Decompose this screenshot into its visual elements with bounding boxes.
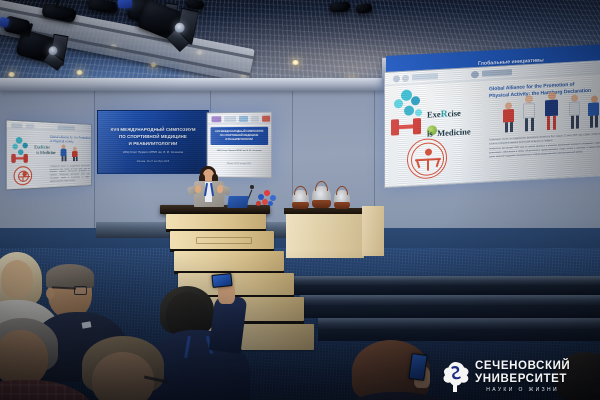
exercise-is-medicine-seal <box>14 166 33 186</box>
watermark-line1: СЕЧЕНОВСКИЙ <box>475 361 570 373</box>
dumbbell-illustration <box>11 153 28 163</box>
symposium-title-screen: XVII МЕЖДУНАРОДНЫЙ СИМПОЗИУМ ПО СПОРТИВН… <box>97 110 209 174</box>
partner-logo-icon <box>212 116 222 122</box>
stage-step-riser <box>318 329 600 341</box>
side-counter <box>286 212 364 258</box>
brand-medicine: Medicine <box>437 126 471 138</box>
figure-illustration <box>543 91 561 130</box>
presenter-at-podium <box>186 166 232 210</box>
podium-inset-plate <box>196 237 252 244</box>
presenter-laptop <box>227 196 249 208</box>
symposium-title-line2: ПО СПОРТИВНОЙ МЕДИЦИНЕ <box>98 134 208 139</box>
audience-head <box>0 330 48 386</box>
partner-logo-icon <box>471 71 479 78</box>
presenter-hand-left <box>195 185 201 193</box>
presenter-hand-right <box>217 185 223 193</box>
flower-arrangement <box>256 190 278 210</box>
gift-basket <box>334 190 350 209</box>
main-presentation-screen: Global Alliance for the Promotion of Phy… <box>384 60 600 188</box>
brand-is: is <box>427 128 433 138</box>
sechenov-university-watermark: СЕЧЕНОВСКИЙ УНИВЕРСИТЕТ НАУКИ О ЖИЗНИ <box>440 358 596 396</box>
audience-ear <box>46 288 54 299</box>
symposium-title-line1: XVII МЕЖДУНАРОДНЫЙ СИМПОЗИУМ <box>98 127 208 132</box>
brand-r: R <box>441 110 448 120</box>
partner-logo-icon <box>402 75 409 82</box>
ceiling-downlight <box>8 72 15 77</box>
partner-logo-icon <box>239 115 248 121</box>
figure-illustration <box>521 95 538 132</box>
stage-step-riser <box>286 285 600 295</box>
audience-hair <box>46 264 94 288</box>
stage-spotlight <box>356 3 373 14</box>
partner-logo-icon <box>262 115 270 121</box>
ceiling-downlight <box>292 60 299 65</box>
monitor-logo-bar <box>208 113 272 125</box>
side-led-wall: Global Alliance for the Promotion of Phy… <box>6 119 92 190</box>
brand-cise: cise <box>448 108 461 119</box>
partner-logo-icon <box>224 116 236 122</box>
symposium-title-line3: И РЕАБИЛИТОЛОГИИ <box>98 141 208 146</box>
exercise-is-medicine-seal <box>407 138 447 180</box>
partner-logo-icon <box>393 75 400 82</box>
side-counter-return <box>362 206 384 256</box>
stage-spotlight <box>330 1 351 12</box>
partner-logo-icon <box>412 73 438 80</box>
microphone-head <box>250 185 254 189</box>
watermark-tagline: НАУКИ О ЖИЗНИ <box>475 388 570 393</box>
stage-step <box>286 276 600 285</box>
partner-logo-icon <box>482 69 512 77</box>
exercise-is-medicine-brand: ExeRcise is Medicine <box>427 102 471 141</box>
figure-illustration <box>71 147 79 162</box>
podium-panel <box>166 214 266 229</box>
gift-basket <box>312 186 331 208</box>
monitor-title-line3: И РЕАБИЛИТОЛОГИИ <box>212 138 266 142</box>
slide-body-text: Глобальный альянс по продвижению физичес… <box>489 133 600 159</box>
watermark-text: СЕЧЕНОВСКИЙ УНИВЕРСИТЕТ НАУКИ О ЖИЗНИ <box>475 361 570 393</box>
brand-ex: Exe <box>427 109 441 120</box>
smartphone[interactable] <box>211 273 232 288</box>
ceiling-downlight <box>76 70 83 75</box>
figure-illustration <box>567 94 583 129</box>
watermark-line2: УНИВЕРСИТЕТ <box>475 374 570 386</box>
monitor-subtitle: НИЦ Спорт Первого МГМУ им. И. М. Сеченов… <box>213 150 265 153</box>
sechenov-tree-logo-icon <box>440 361 470 393</box>
figure-illustration <box>60 144 69 161</box>
partner-logo-icon <box>251 115 259 121</box>
dumbbell-illustration <box>391 117 421 137</box>
stage-step-riser <box>300 305 600 318</box>
monitor-title: XVII МЕЖДУНАРОДНЫЙ СИМПОЗИУМ ПО СПОРТИВН… <box>211 127 269 145</box>
gift-basket <box>292 190 309 209</box>
blue-gel-filter <box>118 0 132 8</box>
audience-head <box>1 260 33 298</box>
figure-illustration <box>587 95 600 128</box>
conference-hall-photo: Global Alliance for the Promotion of Phy… <box>0 0 600 400</box>
symposium-date: Москва, 26-27 октября 2025 <box>98 161 208 163</box>
stage-step <box>318 318 600 329</box>
symposium-subtitle: НИЦ Спорт Первого МГМУ им. И. М. Сеченов… <box>98 151 208 154</box>
podium-panel <box>174 251 284 271</box>
figure-illustration <box>501 102 517 133</box>
stage-step <box>300 295 600 305</box>
